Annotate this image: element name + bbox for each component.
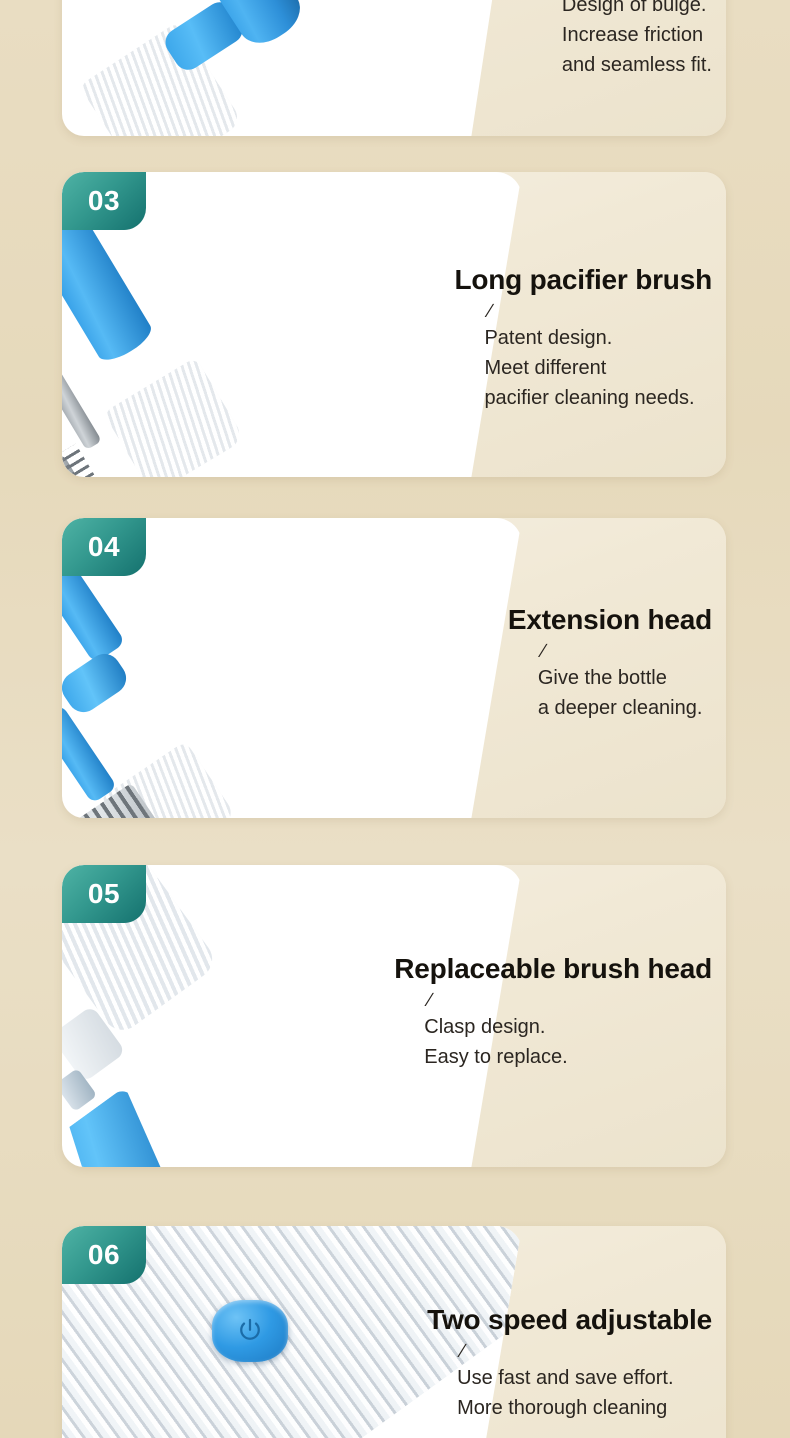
card-body-line: and seamless fit. bbox=[562, 50, 712, 80]
card-heading: Two speed adjustable bbox=[427, 1304, 712, 1336]
card-slash-accent: ∕ bbox=[461, 1342, 712, 1361]
card-body: Clasp design. Easy to replace. bbox=[424, 1012, 712, 1072]
feature-card-03[interactable]: 03 Long pacifier brush ∕ Patent design. … bbox=[62, 172, 726, 477]
card-photo-panel bbox=[62, 0, 522, 136]
card-number-badge-04: 04 bbox=[62, 518, 146, 576]
card-body: Give the bottle a deeper cleaning. bbox=[538, 663, 712, 723]
feature-card-02[interactable]: Design of bulge. Increase friction and s… bbox=[62, 0, 726, 136]
power-button[interactable] bbox=[212, 1300, 288, 1362]
card-heading: Long pacifier brush bbox=[454, 264, 712, 296]
brush-blue-handle bbox=[62, 207, 156, 366]
card-copy: Replaceable brush head ∕ Clasp design. E… bbox=[394, 953, 712, 1072]
card-body: Use fast and save effort. More thorough … bbox=[457, 1363, 712, 1423]
extension-rod-upper bbox=[62, 704, 117, 804]
card-body-line: pacifier cleaning needs. bbox=[484, 383, 712, 413]
card-heading: Replaceable brush head bbox=[394, 953, 712, 985]
card-slash-accent: ∕ bbox=[542, 642, 712, 661]
card-body-line: More thorough cleaning bbox=[457, 1393, 712, 1423]
brush-white-grip bbox=[103, 357, 245, 477]
extension-joint bbox=[62, 648, 132, 719]
card-body-line: Design of bulge. bbox=[562, 0, 712, 20]
card-heading: Extension head bbox=[508, 604, 712, 636]
feature-card-05[interactable]: 05 Replaceable brush head ∕ Clasp design… bbox=[62, 865, 726, 1167]
card-copy: Extension head ∕ Give the bottle a deepe… bbox=[508, 604, 712, 723]
power-icon bbox=[235, 1316, 265, 1346]
brush-stem bbox=[62, 364, 102, 450]
card-body-line: Meet different bbox=[484, 353, 712, 383]
card-body-line: Easy to replace. bbox=[424, 1042, 712, 1072]
card-copy: Design of bulge. Increase friction and s… bbox=[532, 0, 712, 80]
artwork-bottle-brush-bulge-handle bbox=[62, 0, 522, 136]
card-body-line: Patent design. bbox=[484, 323, 712, 353]
feature-card-06[interactable]: 06 Two speed adjustable ∕ Use fast and s… bbox=[62, 1226, 726, 1438]
card-body: Patent design. Meet different pacifier c… bbox=[484, 323, 712, 413]
card-number-badge-05: 05 bbox=[62, 865, 146, 923]
card-copy: Two speed adjustable ∕ Use fast and save… bbox=[427, 1304, 712, 1423]
card-body-line: Give the bottle bbox=[538, 663, 712, 693]
card-copy: Long pacifier brush ∕ Patent design. Mee… bbox=[454, 264, 712, 413]
card-body: Design of bulge. Increase friction and s… bbox=[562, 0, 712, 80]
brush-bristles bbox=[62, 452, 118, 477]
card-body-line: Clasp design. bbox=[424, 1012, 712, 1042]
card-number-badge-06: 06 bbox=[62, 1226, 146, 1284]
feature-card-list: Design of bulge. Increase friction and s… bbox=[0, 0, 790, 1438]
card-body-line: a deeper cleaning. bbox=[538, 693, 712, 723]
card-body-line: Use fast and save effort. bbox=[457, 1363, 712, 1393]
card-slash-accent: ∕ bbox=[488, 302, 712, 321]
card-slash-accent: ∕ bbox=[428, 991, 712, 1010]
feature-card-04[interactable]: 04 Extension head ∕ Give the bottle a de… bbox=[62, 518, 726, 818]
card-number-badge-03: 03 bbox=[62, 172, 146, 230]
card-body-line: Increase friction bbox=[562, 20, 712, 50]
